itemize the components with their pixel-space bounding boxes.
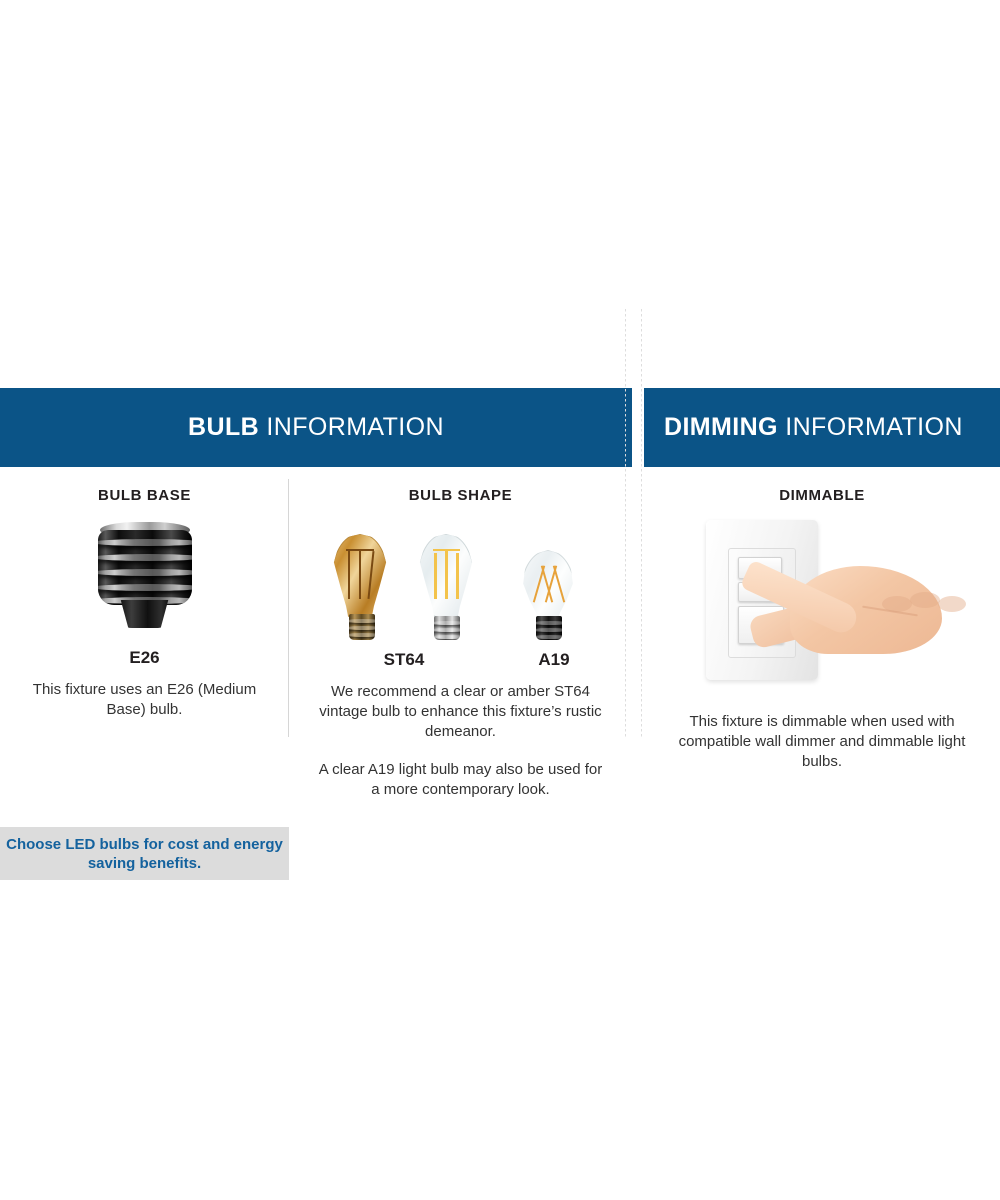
socket-rib [349, 619, 375, 623]
a19-label: A19 [509, 650, 599, 670]
e26-thread [98, 569, 192, 576]
bulb-shape-column: BULB SHAPE [289, 467, 632, 800]
e26-screw-body [98, 530, 192, 605]
filament [359, 549, 361, 599]
filament [348, 551, 350, 599]
panel-dashed-divider [625, 309, 626, 739]
knuckle [938, 596, 966, 612]
bulb-shape-title: BULB SHAPE [289, 467, 632, 504]
dimmable-title: DIMMABLE [644, 467, 1000, 504]
e26-thread [98, 539, 192, 546]
filament [553, 565, 565, 602]
bulb-information-panel: BULB INFORMATION BULB BASE [0, 388, 632, 800]
st64-amber-bulb-photo [331, 524, 393, 640]
e26-thread [98, 554, 192, 561]
led-callout-box: Choose LED bulbs for cost and energy sav… [0, 827, 289, 880]
bulb-shape-images [289, 520, 632, 640]
bulb-information-title: BULB INFORMATION [188, 413, 444, 442]
bulb-socket [434, 616, 460, 640]
e26-thread [98, 584, 192, 591]
led-callout-text: Choose LED bulbs for cost and energy sav… [0, 835, 289, 873]
socket-rib [434, 621, 460, 625]
socket-rib [434, 628, 460, 632]
panel-dashed-divider [641, 309, 642, 739]
wall-dimmer-switch-with-hand-photo [644, 518, 1000, 696]
socket-rib [536, 621, 562, 625]
bulb-information-title-rest: INFORMATION [259, 413, 444, 441]
bulb-base-title: BULB BASE [0, 467, 289, 504]
dimming-information-title-strong: DIMMING [664, 413, 778, 441]
dimmable-description: This fixture is dimmable when used with … [664, 712, 980, 772]
bulb-base-description: This fixture uses an E26 (Medium Base) b… [24, 680, 265, 720]
bulb-shape-description-2: A clear A19 light bulb may also be used … [313, 760, 608, 800]
dimmable-column: DIMMABLE [644, 467, 1000, 772]
dimming-information-title-rest: INFORMATION [778, 413, 963, 441]
knuckle [910, 592, 940, 608]
bulb-and-dimming-information-board: BULB INFORMATION BULB BASE [0, 388, 1000, 818]
e26-contact-tip [118, 600, 172, 628]
bulb-shape-labels: ST64 A19 [289, 650, 632, 676]
a19-glass [521, 550, 575, 620]
dimming-information-title: DIMMING INFORMATION [664, 413, 963, 442]
filament [367, 551, 374, 599]
dimming-information-header-bar: DIMMING INFORMATION [644, 388, 1000, 467]
bulb-base-column: BULB BASE E26 T [0, 467, 289, 800]
filament-bridge [433, 549, 460, 551]
socket-rib [349, 626, 375, 630]
filament-bridge [346, 549, 374, 551]
bulb-information-header-bar: BULB INFORMATION [0, 388, 632, 467]
bulb-information-title-strong: BULB [188, 413, 259, 441]
hand-pressing-dimmer [744, 546, 942, 666]
st64-amber-glass [331, 534, 389, 618]
st64-label: ST64 [359, 650, 449, 670]
bulb-socket [349, 614, 375, 640]
bulb-shape-description-1: We recommend a clear or amber ST64 vinta… [313, 682, 608, 742]
socket-rib [349, 633, 375, 637]
bulb-socket [536, 616, 562, 640]
filament [445, 549, 448, 599]
socket-rib [434, 635, 460, 639]
e26-bulb-base-photo [94, 522, 196, 628]
a19-clear-bulb-photo [521, 540, 577, 640]
filament [434, 553, 437, 599]
socket-rib [536, 635, 562, 639]
bulb-information-columns: BULB BASE E26 T [0, 467, 632, 800]
filament [456, 553, 459, 599]
bulb-base-caption: E26 [0, 648, 289, 668]
st64-clear-glass [417, 534, 475, 618]
socket-rib [536, 628, 562, 632]
st64-clear-bulb-photo [417, 524, 477, 640]
dimming-information-panel: DIMMING INFORMATION DIMMABLE [644, 388, 1000, 772]
e26-bulb-base-image [0, 522, 289, 642]
